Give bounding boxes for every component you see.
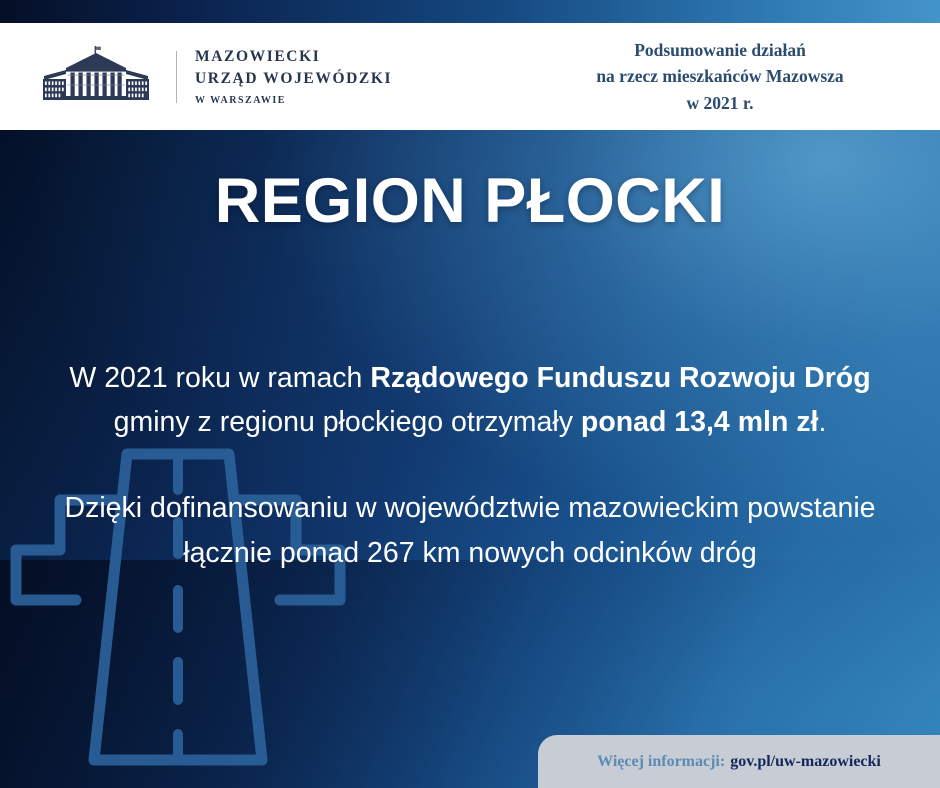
logo-line-1: MAZOWIECKI (195, 46, 392, 68)
paragraph1-bold-1: Rządowego Funduszu Rozwoju Dróg (370, 362, 870, 394)
campaign-title-line-2: na rzecz mieszkańców Mazowsza (596, 63, 843, 90)
government-palace-building-icon (30, 44, 162, 110)
campaign-title: Podsumowanie działań na rzecz mieszkańcó… (500, 23, 940, 130)
page-title: REGION PŁOCKI (0, 165, 940, 237)
paragraph1-text-2: gminy z regionu płockiego otrzymały (114, 406, 581, 438)
paragraph1-text-3: . (818, 406, 826, 438)
paragraph1-text-1: W 2021 roku w ramach (69, 362, 370, 394)
body-copy: W 2021 roku w ramach Rządowego Funduszu … (0, 356, 940, 575)
campaign-title-line-3: w 2021 r. (687, 90, 754, 117)
institution-logo: MAZOWIECKI URZĄD WOJEWÓDZKI W WARSZAWIE (30, 44, 392, 110)
footer-info-panel: Więcej informacji: gov.pl/uw-mazowiecki (538, 735, 940, 788)
paragraph2-line-2: łącznie ponad 267 km nowych odcinków dró… (183, 537, 757, 569)
paragraph-roads: Dzięki dofinansowaniu w województwie maz… (0, 486, 940, 574)
logo-line-2: URZĄD WOJEWÓDZKI (195, 68, 392, 90)
footer-label: Więcej informacji: (597, 753, 725, 771)
logo-divider (176, 51, 177, 103)
paragraph1-bold-2: ponad 13,4 mln zł (581, 406, 819, 438)
paragraph2-line-1: Dzięki dofinansowaniu w województwie maz… (64, 492, 875, 524)
logo-line-3: W WARSZAWIE (195, 93, 392, 108)
footer-url[interactable]: gov.pl/uw-mazowiecki (730, 753, 881, 771)
paragraph-spacer (0, 444, 940, 486)
logo-text-block: MAZOWIECKI URZĄD WOJEWÓDZKI W WARSZAWIE (195, 46, 392, 108)
campaign-title-line-1: Podsumowanie działań (634, 37, 806, 64)
infographic-poster: MAZOWIECKI URZĄD WOJEWÓDZKI W WARSZAWIE … (0, 0, 940, 788)
top-gradient-strip (0, 0, 940, 23)
paragraph-funding: W 2021 roku w ramach Rządowego Funduszu … (0, 356, 940, 444)
